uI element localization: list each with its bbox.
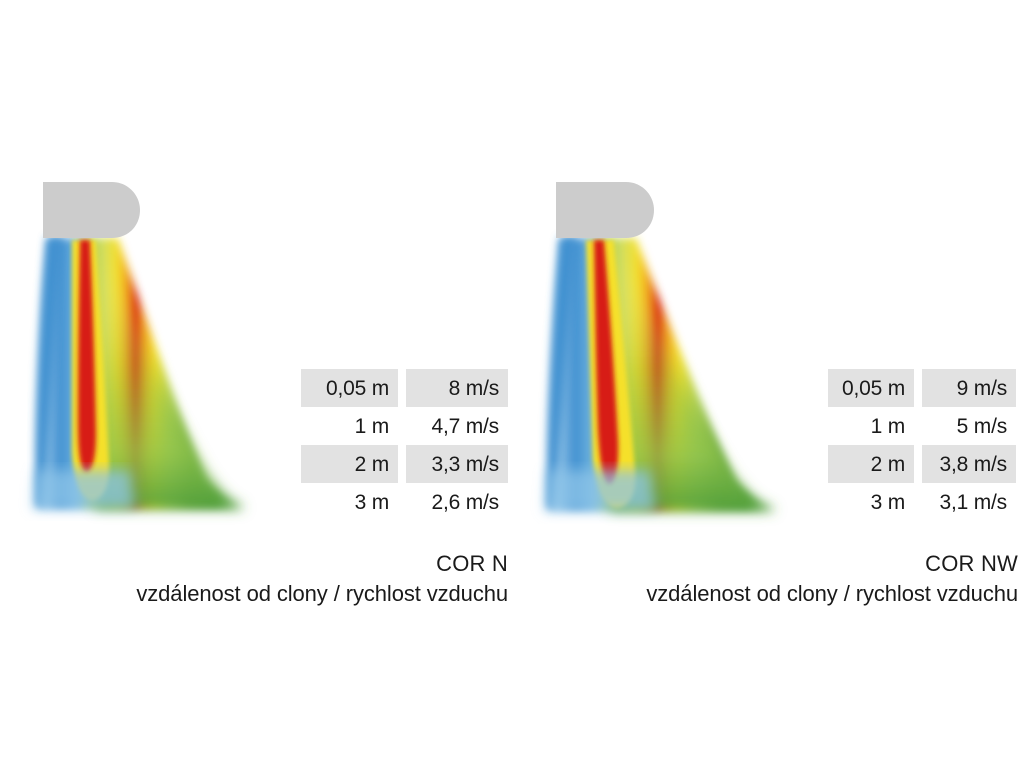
air-curtain-unit-icon [556,182,654,238]
cfd-plume-visualization-cor-nw [518,0,818,768]
cfd-plume-visualization-cor-n [0,0,300,768]
air-curtain-unit-icon [43,182,140,238]
panel-subtitle: vzdálenost od clony / rychlost vzduchu [580,581,1018,607]
cell-speed: 3,1 m/s [922,483,1016,521]
table-row: 1 m 5 m/s [828,407,1016,445]
cell-distance: 0,05 m [301,369,398,407]
cell-speed: 5 m/s [922,407,1016,445]
cell-speed: 4,7 m/s [406,407,508,445]
cfd-panel-cor-nw [518,0,818,768]
cell-distance: 0,05 m [828,369,914,407]
cell-distance: 1 m [301,407,398,445]
velocity-table-cor-nw: 0,05 m 9 m/s 1 m 5 m/s 2 m 3,8 m/s 3 m 3… [828,369,1016,521]
cell-speed: 3,3 m/s [406,445,508,483]
caption-cor-n: COR N vzdálenost od clony / rychlost vzd… [60,551,508,607]
panel-title: COR N [60,551,508,577]
table-row: 0,05 m 8 m/s [301,369,508,407]
table-row: 2 m 3,8 m/s [828,445,1016,483]
cell-speed: 9 m/s [922,369,1016,407]
plume-floor-spill [33,470,135,509]
cell-distance: 3 m [828,483,914,521]
cell-speed: 2,6 m/s [406,483,508,521]
velocity-table-cor-n: 0,05 m 8 m/s 1 m 4,7 m/s 2 m 3,3 m/s 3 m… [301,369,508,521]
caption-cor-nw: COR NW vzdálenost od clony / rychlost vz… [580,551,1018,607]
cell-speed: 8 m/s [406,369,508,407]
table-row: 0,05 m 9 m/s [828,369,1016,407]
plume-floor-spill [545,470,656,511]
cell-distance: 1 m [828,407,914,445]
cell-distance: 3 m [301,483,398,521]
cell-distance: 2 m [301,445,398,483]
cell-speed: 3,8 m/s [922,445,1016,483]
cell-distance: 2 m [828,445,914,483]
table-row: 1 m 4,7 m/s [301,407,508,445]
table-row: 3 m 2,6 m/s [301,483,508,521]
figure-canvas: 0,05 m 8 m/s 1 m 4,7 m/s 2 m 3,3 m/s 3 m… [0,0,1024,768]
table-row: 2 m 3,3 m/s [301,445,508,483]
panel-subtitle: vzdálenost od clony / rychlost vzduchu [60,581,508,607]
panel-title: COR NW [580,551,1018,577]
table-row: 3 m 3,1 m/s [828,483,1016,521]
cfd-panel-cor-n [0,0,300,768]
